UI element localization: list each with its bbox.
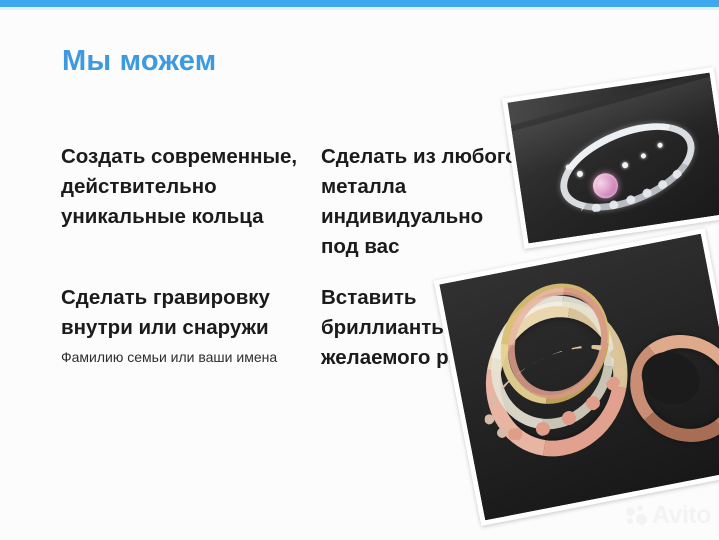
solitaire-ring-photo xyxy=(502,67,719,249)
feature-title: Сделать из любого металла индивидуально … xyxy=(321,142,526,262)
photo-frame-inner xyxy=(508,73,719,244)
top-accent-bar xyxy=(0,0,719,7)
avito-dot xyxy=(636,514,647,525)
avito-dot xyxy=(627,518,633,524)
avito-dot xyxy=(626,507,635,516)
feature-subtitle: Фамилию семьи или ваши имена xyxy=(61,347,309,368)
feature-block-engraving: Сделать гравировку внутри или снаружи Фа… xyxy=(61,283,309,368)
photo-frame-inner xyxy=(440,234,719,520)
feature-title: Создать современные, действительно уника… xyxy=(61,142,309,232)
avito-wordmark: Avito xyxy=(652,503,711,528)
three-tone-rings-photo xyxy=(434,228,719,526)
page-title: Мы можем xyxy=(62,45,216,78)
avito-dots-logo-icon xyxy=(626,505,647,526)
feature-title: Сделать гравировку внутри или снаружи xyxy=(61,283,309,343)
avito-dot xyxy=(637,505,643,511)
slide-canvas: Мы можем Создать современные, действител… xyxy=(0,0,719,540)
feature-block-create-rings: Создать современные, действительно уника… xyxy=(61,142,309,232)
feature-block-any-metal: Сделать из любого металла индивидуально … xyxy=(321,142,526,262)
avito-watermark: Avito xyxy=(626,503,711,528)
top-accent-bar-light xyxy=(0,7,719,10)
